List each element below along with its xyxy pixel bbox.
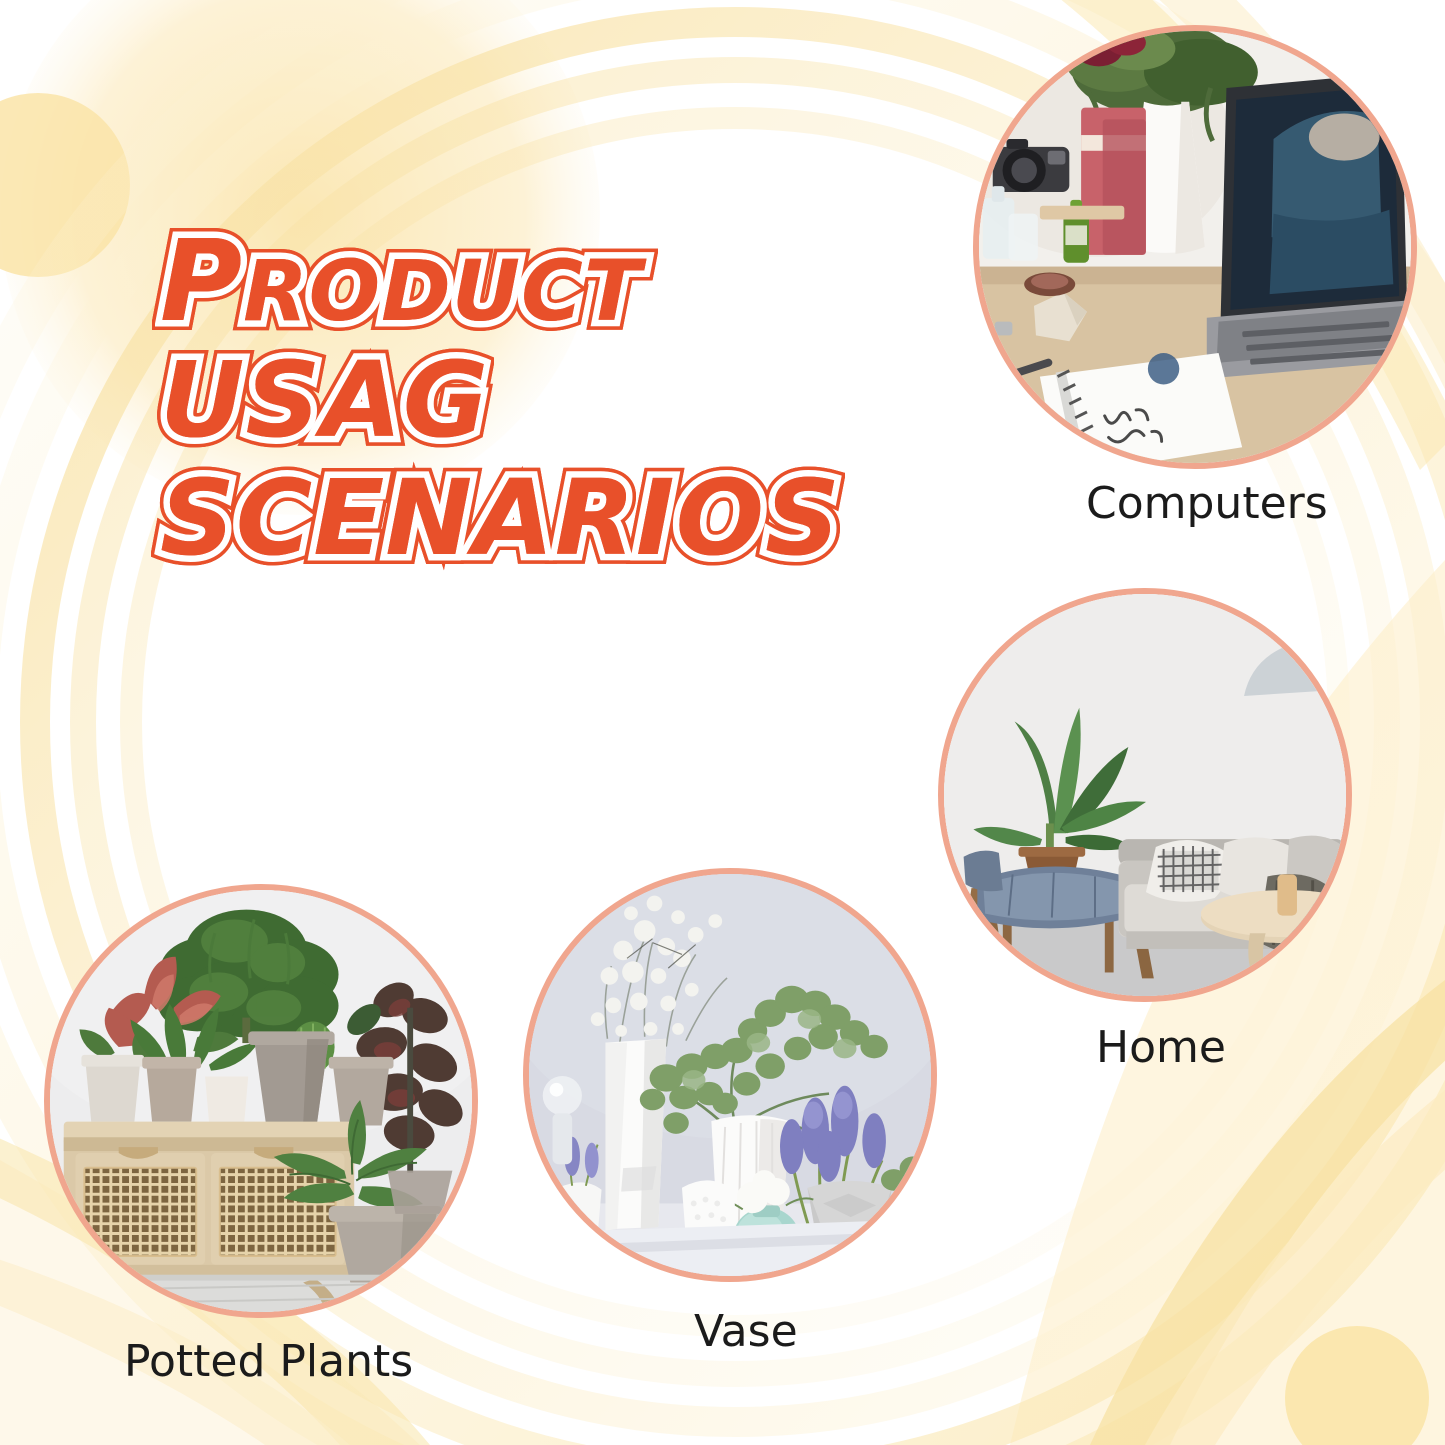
title-line-1-fill: PRODUCT bbox=[160, 228, 920, 338]
caption-computers: Computers bbox=[1086, 478, 1328, 529]
caption-vase: Vase bbox=[694, 1306, 798, 1357]
scenario-image-potted-plants bbox=[44, 884, 478, 1318]
title-line-1: PRODUCT PRODUCT PRODUCT bbox=[160, 228, 920, 350]
title-line-2: USAG USAG USAG bbox=[160, 350, 920, 468]
scenario-image-computers bbox=[973, 25, 1417, 469]
caption-home: Home bbox=[1096, 1022, 1226, 1073]
page-title: PRODUCT PRODUCT PRODUCT USAG USAG USAG S… bbox=[160, 228, 920, 588]
scenario-image-home bbox=[938, 588, 1352, 1002]
title-line-3: SCENARIOS SCENARIOS SCENARIOS bbox=[160, 468, 920, 588]
computers-desk-illustration bbox=[979, 31, 1411, 463]
vase-arrangement-illustration bbox=[529, 874, 931, 1276]
title-line-2-fill: USAG bbox=[160, 350, 920, 452]
potted-plants-illustration bbox=[50, 890, 472, 1312]
scenario-image-vase bbox=[523, 868, 937, 1282]
home-living-room-illustration bbox=[944, 594, 1346, 996]
caption-potted-plants: Potted Plants bbox=[124, 1336, 413, 1387]
product-usage-scenarios-poster: PRODUCT PRODUCT PRODUCT USAG USAG USAG S… bbox=[0, 0, 1445, 1445]
title-line-3-fill: SCENARIOS bbox=[160, 468, 920, 570]
